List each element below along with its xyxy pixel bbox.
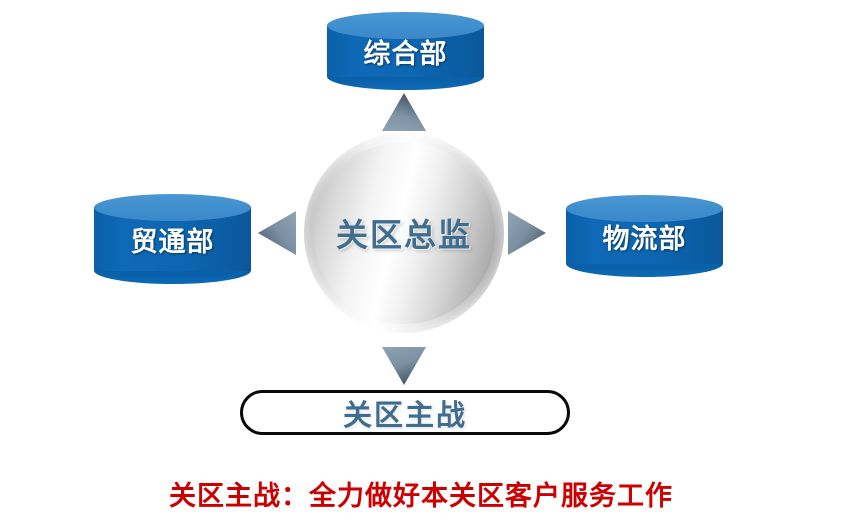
triangle-up-icon [382,93,426,135]
triangle-down-icon [382,347,426,389]
center-sphere-label: 关区总监 [304,133,504,333]
node-right-label: 物流部 [566,195,723,277]
node-left-trade-dept[interactable]: 贸通部 [94,194,251,284]
node-top-comprehensive-dept[interactable]: 综合部 [327,12,484,90]
bottom-pill-box[interactable]: 关区主战 [240,390,570,435]
node-top-label: 综合部 [327,12,484,90]
bottom-pill-label: 关区主战 [343,392,467,434]
node-left-label: 贸通部 [94,194,251,284]
node-right-logistics-dept[interactable]: 物流部 [566,195,723,277]
triangle-right-icon [508,211,546,259]
diagram-canvas: 综合部 贸通部 物流部 [0,0,842,526]
triangle-left-icon [258,211,296,259]
caption-text: 关区主战：全力做好本关区客户服务工作 [0,474,842,513]
